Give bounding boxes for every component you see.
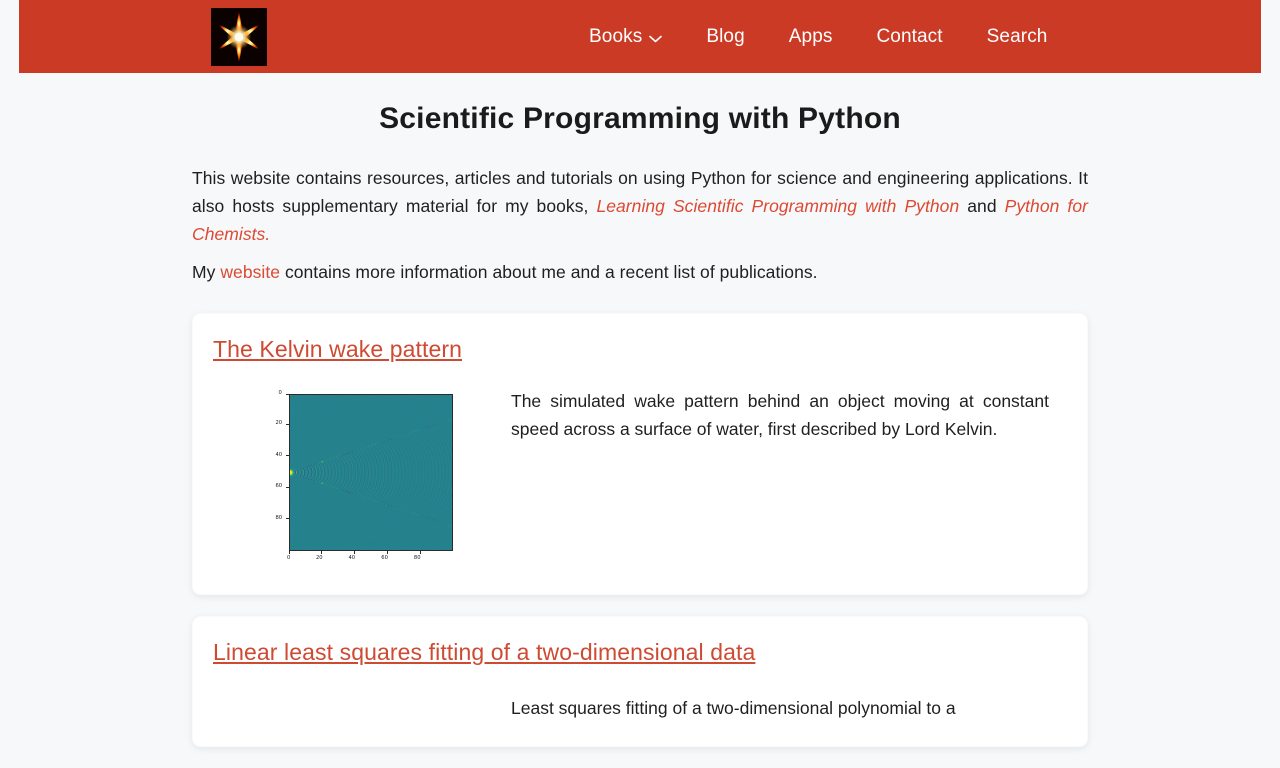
intro-line2-pre: My	[192, 262, 220, 282]
nav-item-books[interactable]: Books	[567, 0, 684, 73]
y-tick-60: 60	[276, 484, 283, 489]
chevron-down-icon	[649, 35, 662, 43]
y-tickmark-80	[286, 518, 289, 519]
x-tick-80: 80	[414, 556, 421, 561]
nav-label-contact: Contact	[876, 0, 942, 73]
nav-item-blog[interactable]: Blog	[684, 0, 766, 73]
nav-item-search[interactable]: Search	[965, 0, 1070, 73]
card-title-kelvin-wake[interactable]: The Kelvin wake pattern	[213, 336, 462, 362]
card-figure-kelvin-wake: 0 20 40 60 80 0 20 40	[213, 385, 511, 570]
card-description-linear-least-squares: Least squares fitting of a two-dimension…	[511, 692, 1067, 722]
intro-paragraph-2: My website contains more information abo…	[192, 258, 1088, 286]
nav-label-apps: Apps	[789, 0, 833, 73]
kelvin-wake-plot: 0 20 40 60 80 0 20 40	[270, 385, 455, 570]
intro-section: This website contains resources, article…	[192, 136, 1088, 286]
x-tickmark-80	[420, 551, 421, 554]
nav-item-contact[interactable]: Contact	[854, 0, 964, 73]
page-title: Scientific Programming with Python	[0, 102, 1280, 136]
page-content: Scientific Programming with Python This …	[0, 73, 1280, 768]
nav-label-search: Search	[987, 0, 1048, 73]
nav-item-apps[interactable]: Apps	[767, 0, 855, 73]
y-tickmark-40	[286, 455, 289, 456]
y-tickmark-20	[286, 424, 289, 425]
y-tick-0: 0	[279, 391, 282, 396]
intro-conjunction: and	[959, 196, 1004, 216]
y-tickmark-60	[286, 487, 289, 488]
y-tick-20: 20	[276, 421, 283, 426]
card-body: 0 20 40 60 80 0 20 40	[213, 363, 1067, 570]
link-website[interactable]: website	[220, 262, 280, 282]
x-tick-0: 0	[287, 556, 290, 561]
card-title-linear-least-squares[interactable]: Linear least squares fitting of a two-di…	[213, 639, 755, 665]
intro-period: .	[265, 224, 270, 244]
card-kelvin-wake[interactable]: The Kelvin wake pattern 0 20 40 60 80	[192, 313, 1088, 595]
x-tick-40: 40	[349, 556, 356, 561]
plot-axes	[289, 394, 453, 551]
star-logo-icon	[211, 8, 267, 66]
card-linear-least-squares[interactable]: Linear least squares fitting of a two-di…	[192, 616, 1088, 747]
x-tickmark-60	[387, 551, 388, 554]
card-list: The Kelvin wake pattern 0 20 40 60 80	[192, 286, 1088, 747]
y-tick-40: 40	[276, 453, 283, 458]
y-tick-80: 80	[276, 516, 283, 521]
x-tick-60: 60	[381, 556, 388, 561]
nav-label-books: Books	[589, 0, 642, 73]
y-tickmark-0	[286, 394, 289, 395]
intro-line2-post: contains more information about me and a…	[280, 262, 818, 282]
site-logo[interactable]	[211, 8, 267, 66]
site-header: Books Blog Apps Contact Search	[19, 0, 1261, 73]
nav-label-blog: Blog	[706, 0, 744, 73]
x-tickmark-0	[289, 551, 290, 554]
link-learning-scientific-programming[interactable]: Learning Scientific Programming with Pyt…	[596, 196, 959, 216]
x-tickmark-40	[354, 551, 355, 554]
x-tick-20: 20	[316, 556, 323, 561]
x-tickmark-20	[321, 551, 322, 554]
main-navigation: Books Blog Apps Contact Search	[567, 0, 1069, 73]
card-description-kelvin-wake: The simulated wake pattern behind an obj…	[511, 385, 1067, 443]
intro-paragraph-1: This website contains resources, article…	[192, 164, 1088, 248]
card-body: Least squares fitting of a two-dimension…	[213, 666, 1067, 722]
